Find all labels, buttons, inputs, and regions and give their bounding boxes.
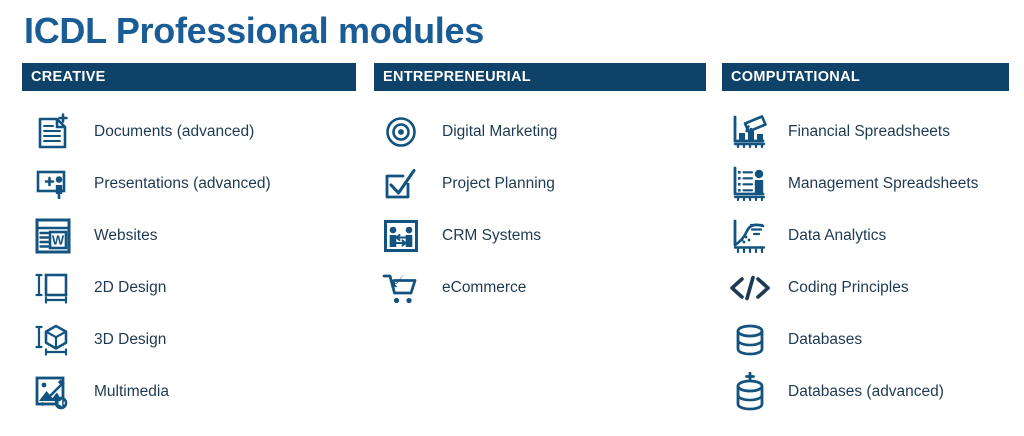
list-item-label: Multimedia — [94, 383, 169, 401]
list-item[interactable]: Project Planning — [374, 158, 706, 210]
shopping-cart-icon — [376, 266, 426, 310]
list-item[interactable]: Management Spreadsheets — [722, 158, 1009, 210]
column-computational: COMPUTATIONAL — [722, 63, 1009, 418]
list-item[interactable]: 2D Design — [22, 262, 356, 314]
list-item-label: Project Planning — [442, 175, 555, 193]
management-list-person-icon — [724, 162, 776, 206]
document-plus-icon — [26, 110, 80, 154]
list-item[interactable]: Presentations (advanced) — [22, 158, 356, 210]
module-list-computational: Financial Spreadsheets — [722, 106, 1009, 418]
svg-text:W: W — [52, 233, 65, 248]
website-window-icon: W — [26, 214, 80, 258]
list-item[interactable]: Databases (advanced) — [722, 366, 1009, 418]
column-header-creative: CREATIVE — [22, 63, 356, 91]
list-item-label: eCommerce — [442, 279, 526, 297]
list-item-label: Coding Principles — [788, 279, 909, 297]
list-item[interactable]: Databases — [722, 314, 1009, 366]
module-list-entrepreneurial: Digital Marketing Project Planning — [374, 106, 706, 314]
2d-design-icon — [26, 266, 80, 310]
data-analytics-curve-icon — [724, 214, 776, 258]
list-item-label: Websites — [94, 227, 157, 245]
list-item-label: Financial Spreadsheets — [788, 123, 950, 141]
list-item[interactable]: 3D Design — [22, 314, 356, 366]
column-header-entrepreneurial: ENTREPRENEURIAL — [374, 63, 706, 91]
presentation-plus-icon — [26, 162, 80, 206]
list-item-label: Data Analytics — [788, 227, 886, 245]
list-item[interactable]: Data Analytics — [722, 210, 1009, 262]
column-creative: CREATIVE Docum — [22, 63, 356, 418]
multimedia-image-audio-icon — [26, 370, 80, 414]
list-item[interactable]: Digital Marketing — [374, 106, 706, 158]
list-item-label: Presentations (advanced) — [94, 175, 271, 193]
list-item-label: Digital Marketing — [442, 123, 557, 141]
poster-root: ICDL Professional modules CREATIVE — [0, 0, 1024, 436]
checkbox-check-icon — [376, 162, 426, 206]
column-entrepreneurial: ENTREPRENEURIAL Digital Marketing — [374, 63, 706, 314]
list-item[interactable]: W Websites — [22, 210, 356, 262]
column-header-computational: COMPUTATIONAL — [722, 63, 1009, 91]
list-item[interactable]: Coding Principles — [722, 262, 1009, 314]
database-cylinder-plus-icon — [724, 370, 776, 414]
database-cylinder-icon — [724, 318, 776, 362]
list-item-label: Databases (advanced) — [788, 383, 944, 401]
financial-chart-icon — [724, 110, 776, 154]
list-item[interactable]: Multimedia — [22, 366, 356, 418]
list-item[interactable]: CRM Systems — [374, 210, 706, 262]
list-item[interactable]: Documents (advanced) — [22, 106, 356, 158]
target-icon — [376, 110, 426, 154]
two-people-exchange-icon — [376, 214, 426, 258]
list-item-label: CRM Systems — [442, 227, 541, 245]
list-item-label: 2D Design — [94, 279, 166, 297]
3d-design-cube-icon — [26, 318, 80, 362]
code-brackets-icon — [724, 266, 776, 310]
list-item[interactable]: Financial Spreadsheets — [722, 106, 1009, 158]
list-item-label: Databases — [788, 331, 862, 349]
list-item[interactable]: eCommerce — [374, 262, 706, 314]
list-item-label: Management Spreadsheets — [788, 175, 978, 193]
module-list-creative: Documents (advanced) Presentations (adva… — [22, 106, 356, 418]
list-item-label: Documents (advanced) — [94, 123, 254, 141]
list-item-label: 3D Design — [94, 331, 166, 349]
page-title: ICDL Professional modules — [24, 9, 484, 53]
